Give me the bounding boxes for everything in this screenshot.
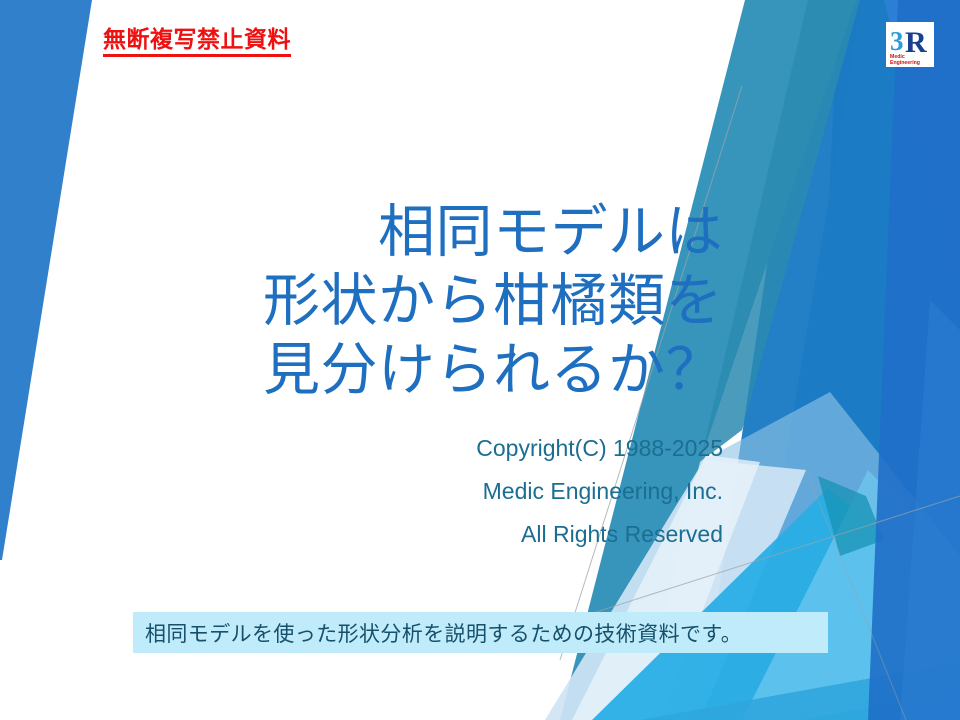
rights-line: All Rights Reserved — [330, 513, 723, 556]
copyright-line: Copyright(C) 1988-2025 — [330, 427, 723, 470]
caption-text: 相同モデルを使った形状分析を説明するための技術資料です。 — [133, 618, 742, 648]
logo-letter: R — [905, 26, 927, 59]
slide-subtitle: Copyright(C) 1988-2025 Medic Engineering… — [330, 427, 723, 555]
slide-canvas: 無断複写禁止資料 3 R Medic Engineering 相同モデルは 形状… — [0, 0, 960, 720]
logo-3r-icon: 3 R Medic Engineering — [886, 22, 934, 67]
logo-subtext-line2: Engineering — [890, 60, 920, 66]
copyright-notice-header: 無断複写禁止資料 — [103, 27, 291, 57]
logo-digit: 3 — [890, 26, 904, 56]
title-line-3: 見分けられるか？ — [180, 336, 723, 405]
company-logo: 3 R Medic Engineering — [886, 22, 934, 67]
company-line: Medic Engineering, Inc. — [330, 470, 723, 513]
slide-title: 相同モデルは 形状から柑橘類を 見分けられるか？ — [180, 198, 723, 405]
title-line-1: 相同モデルは — [180, 198, 723, 267]
title-line-2: 形状から柑橘類を — [180, 267, 723, 336]
caption-bar: 相同モデルを使った形状分析を説明するための技術資料です。 — [133, 612, 828, 653]
